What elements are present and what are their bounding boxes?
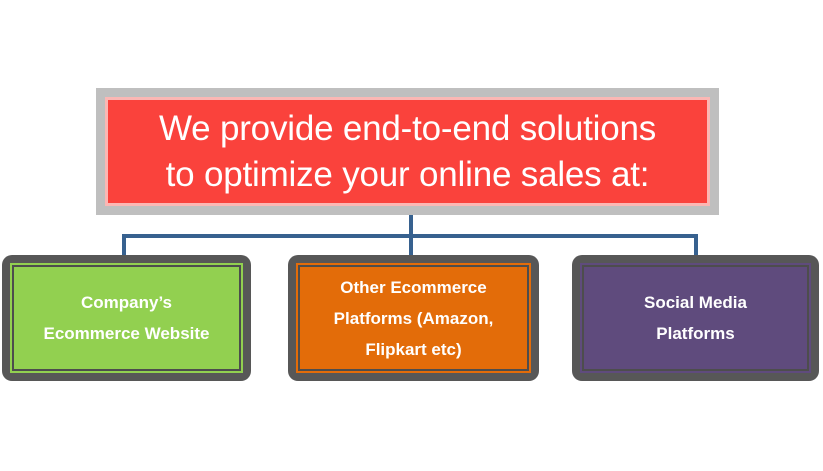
diagram-canvas: We provide end-to-end solutions to optim… <box>0 0 823 471</box>
node-line-1: Other Ecommerce <box>340 272 486 303</box>
node-line-2: Platforms <box>656 318 734 349</box>
node-line-2: Platforms (Amazon, <box>334 303 494 334</box>
node-box-inner: Social Media Platforms <box>582 265 809 371</box>
node-line-1: Company’s <box>81 287 172 318</box>
header-line-1: We provide end-to-end solutions <box>159 106 656 152</box>
other-ecommerce-platforms-node: Other Ecommerce Platforms (Amazon, Flipk… <box>288 255 539 381</box>
social-media-platforms-node: Social Media Platforms <box>572 255 819 381</box>
tree-connectors <box>0 0 823 471</box>
node-line-2: Ecommerce Website <box>44 318 210 349</box>
node-accent-frame: Other Ecommerce Platforms (Amazon, Flipk… <box>296 263 531 373</box>
node-accent-frame: Social Media Platforms <box>580 263 811 373</box>
company-ecommerce-website-node: Company’s Ecommerce Website <box>2 255 251 381</box>
node-box-inner: Other Ecommerce Platforms (Amazon, Flipk… <box>298 265 529 371</box>
end-to-end-solutions-header: We provide end-to-end solutions to optim… <box>96 88 719 215</box>
header-box-inner: We provide end-to-end solutions to optim… <box>105 97 710 206</box>
node-line-3: Flipkart etc) <box>365 334 461 365</box>
node-box-inner: Company’s Ecommerce Website <box>12 265 241 371</box>
node-line-1: Social Media <box>644 287 747 318</box>
header-line-2: to optimize your online sales at: <box>166 152 650 198</box>
node-accent-frame: Company’s Ecommerce Website <box>10 263 243 373</box>
